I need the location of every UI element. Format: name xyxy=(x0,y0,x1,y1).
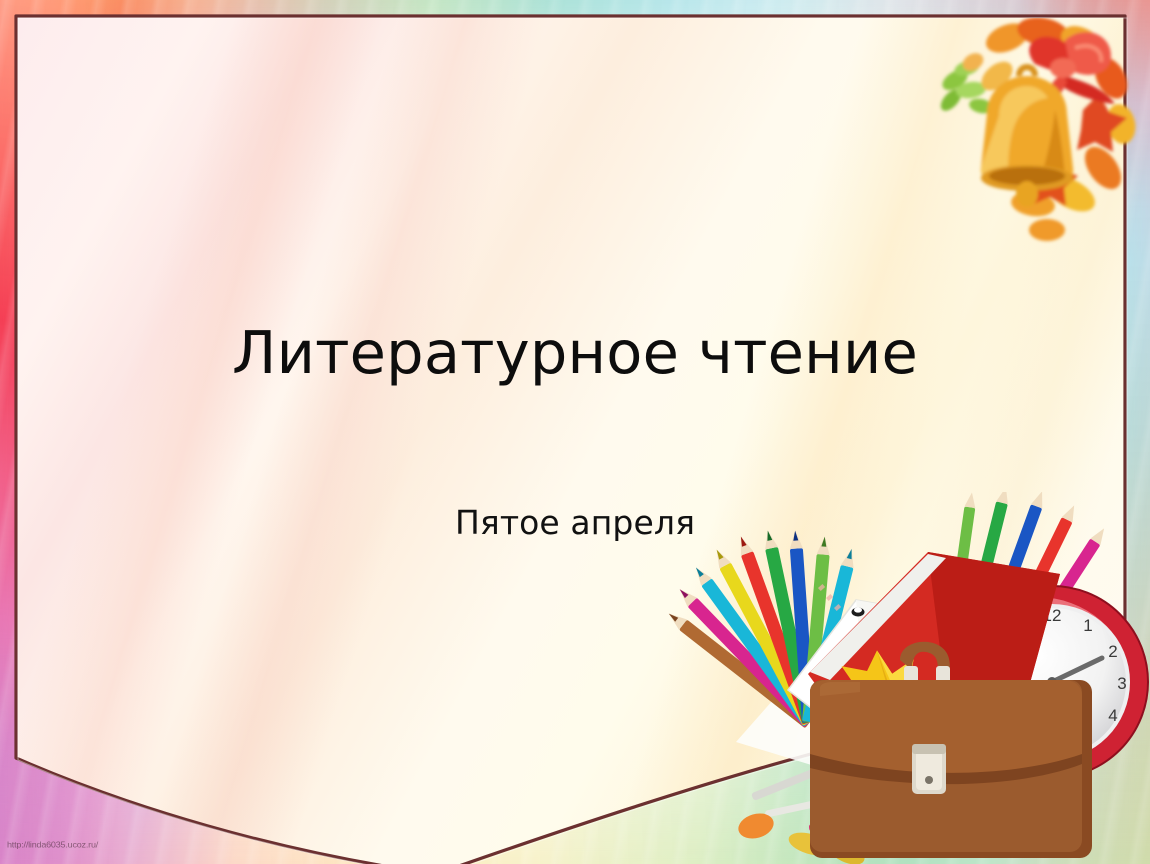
acorn-shape xyxy=(1029,219,1065,241)
source-watermark: http://linda6035.ucoz.ru/ xyxy=(7,841,98,850)
school-bell-decoration xyxy=(915,18,1150,248)
school-supplies-decoration: 12 1 2 3 4 5 6 7 8 9 10 11 xyxy=(660,492,1150,864)
svg-text:4: 4 xyxy=(1108,706,1117,725)
svg-text:3: 3 xyxy=(1117,674,1126,693)
slide-subtitle: Пятое апреля xyxy=(0,503,1150,542)
svg-text:1: 1 xyxy=(1083,616,1092,635)
slide-title: Литературное чтение xyxy=(0,322,1150,384)
svg-text:2: 2 xyxy=(1108,642,1117,661)
presentation-slide: 12 1 2 3 4 5 6 7 8 9 10 11 xyxy=(0,0,1150,864)
